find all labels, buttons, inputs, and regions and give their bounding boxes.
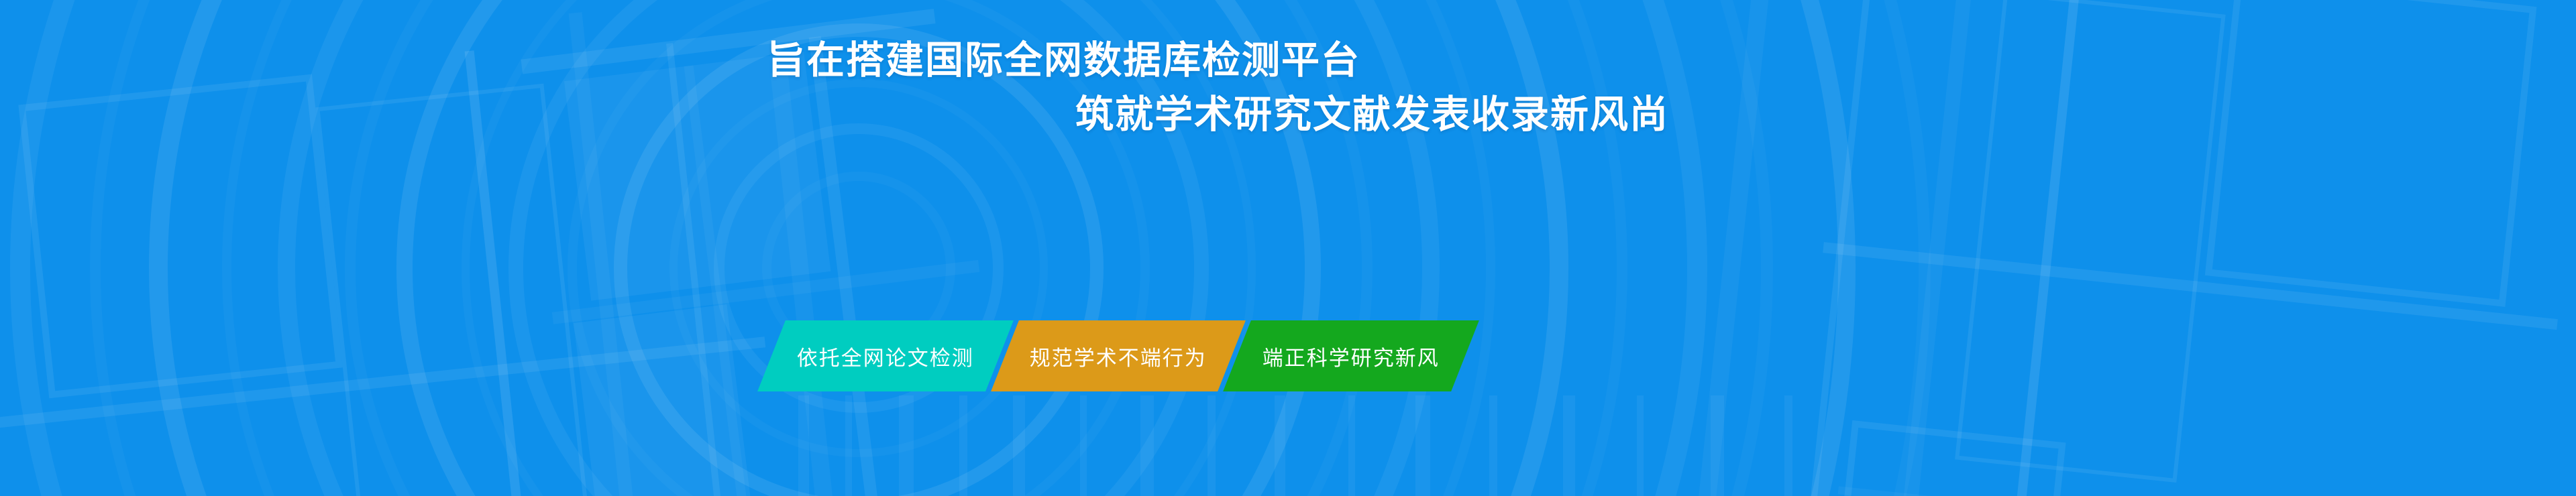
feature-tag-research-ethos[interactable]: 端正科学研究新风 [1223,320,1479,391]
feature-tag-plagiarism-detection[interactable]: 依托全网论文检测 [757,320,1014,391]
feature-tag-academic-misconduct[interactable]: 规范学术不端行为 [991,320,1246,391]
feature-tag-label: 依托全网论文检测 [797,341,974,371]
headline-line-1: 旨在搭建国际全网数据库检测平台 [767,42,2576,80]
promo-banner: 旨在搭建国际全网数据库检测平台 筑就学术研究文献发表收录新风尚 依托全网论文检测… [0,0,2576,496]
feature-tag-strip: 依托全网论文检测 规范学术不端行为 端正科学研究新风 [771,320,1465,391]
feature-tag-label: 端正科学研究新风 [1263,341,1440,371]
headline-line-2: 筑就学术研究文献发表收录新风尚 [1075,96,2576,134]
headline-block: 旨在搭建国际全网数据库检测平台 筑就学术研究文献发表收录新风尚 [0,42,2576,134]
feature-tag-label: 规范学术不端行为 [1030,341,1207,371]
